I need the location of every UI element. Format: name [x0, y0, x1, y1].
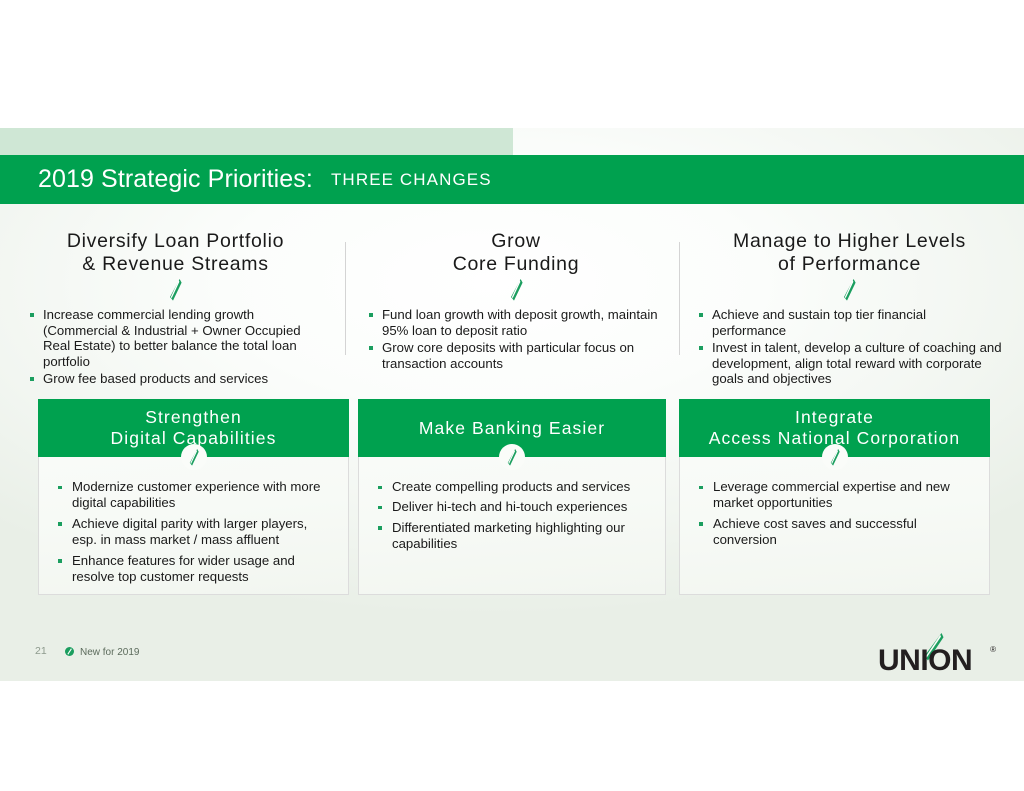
slide-footer: 21 New for 2019 UNION ®	[0, 628, 1024, 681]
union-wordmark: UNION	[878, 646, 972, 676]
list-item: Achieve and sustain top tier financial p…	[697, 307, 1002, 338]
page-subtitle: THREE CHANGES	[331, 170, 492, 190]
priority-heading-line-2: of Performance	[697, 253, 1002, 276]
change-initiatives-row: Strengthen Digital Capabilities Moderniz…	[0, 400, 1024, 600]
list-item: Invest in talent, develop a culture of c…	[697, 340, 1002, 387]
mint-accent-band	[0, 128, 513, 155]
list-item: Leverage commercial expertise and new ma…	[697, 479, 973, 512]
priority-heading-line-1: Diversify Loan Portfolio	[28, 230, 323, 253]
priority-heading-line-1: Manage to Higher Levels	[697, 230, 1002, 253]
initiative-card-header: Integrate Access National Corporation	[679, 399, 990, 457]
list-item: Achieve cost saves and successful conver…	[697, 516, 973, 549]
initiative-card-make-banking-easier: Make Banking Easier Create compelling pr…	[358, 400, 666, 595]
priority-bullet-list: Increase commercial lending growth (Comm…	[28, 307, 323, 387]
priority-column-manage-to-higher-levels: Manage to Higher Levels of Performance A…	[679, 224, 1024, 420]
initiative-heading-line-1: Make Banking Easier	[419, 418, 605, 439]
list-item: Grow core deposits with particular focus…	[367, 340, 665, 371]
initiative-card-header: Make Banking Easier	[358, 399, 666, 457]
list-item: Create compelling products and services	[376, 479, 649, 495]
initiative-bullet-list: Leverage commercial expertise and new ma…	[680, 457, 989, 549]
priority-heading-line-1: Grow	[367, 230, 665, 253]
list-item: Differentiated marketing highlighting ou…	[376, 520, 649, 553]
list-item: Deliver hi-tech and hi-touch experiences	[376, 499, 649, 515]
new-for-2019-icon	[65, 643, 74, 661]
priority-column-heading: Manage to Higher Levels of Performance	[697, 224, 1002, 276]
initiative-card-header: Strengthen Digital Capabilities	[38, 399, 349, 457]
leaf-icon	[28, 277, 323, 303]
legend-label: New for 2019	[80, 647, 139, 658]
leaf-icon	[697, 277, 1002, 303]
initiative-bullet-list: Create compelling products and services …	[359, 457, 665, 553]
list-item: Fund loan growth with deposit growth, ma…	[367, 307, 665, 338]
initiative-card-strengthen-digital-capabilities: Strengthen Digital Capabilities Moderniz…	[38, 400, 349, 595]
list-item: Modernize customer experience with more …	[56, 479, 332, 512]
union-logo: UNION ®	[878, 634, 996, 676]
page-title: 2019 Strategic Priorities:	[38, 165, 313, 194]
priority-heading-line-2: & Revenue Streams	[28, 253, 323, 276]
leaf-icon	[499, 444, 525, 470]
initiative-bullet-list: Modernize customer experience with more …	[39, 457, 348, 585]
priority-bullet-list: Fund loan growth with deposit growth, ma…	[367, 307, 665, 371]
leaf-icon	[181, 444, 207, 470]
initiative-card-integrate-access-national-corporation: Integrate Access National Corporation Le…	[679, 400, 990, 595]
leaf-icon	[822, 444, 848, 470]
initiative-heading-line-1: Integrate	[795, 407, 874, 428]
priority-column-heading: Grow Core Funding	[367, 224, 665, 276]
initiative-heading-line-1: Strengthen	[145, 407, 242, 428]
list-item: Enhance features for wider usage and res…	[56, 553, 332, 586]
list-item: Grow fee based products and services	[28, 371, 323, 387]
slide-canvas: 2019 Strategic Priorities: THREE CHANGES…	[0, 128, 1024, 681]
page-number: 21	[35, 645, 47, 657]
slide-title-bar: 2019 Strategic Priorities: THREE CHANGES	[0, 155, 1024, 204]
priority-column-diversify-loan-portfolio: Diversify Loan Portfolio & Revenue Strea…	[0, 224, 345, 420]
list-item: Increase commercial lending growth (Comm…	[28, 307, 323, 369]
strategic-priorities-row: Diversify Loan Portfolio & Revenue Strea…	[0, 224, 1024, 420]
priority-column-grow-core-funding: Grow Core Funding Fund loan growth with …	[345, 224, 679, 420]
priority-heading-line-2: Core Funding	[367, 253, 665, 276]
list-item: Achieve digital parity with larger playe…	[56, 516, 332, 549]
legend-new-for-2019: New for 2019	[65, 643, 139, 661]
priority-bullet-list: Achieve and sustain top tier financial p…	[697, 307, 1002, 387]
registered-trademark-icon: ®	[990, 645, 996, 654]
leaf-icon	[367, 277, 665, 303]
priority-column-heading: Diversify Loan Portfolio & Revenue Strea…	[28, 224, 323, 276]
